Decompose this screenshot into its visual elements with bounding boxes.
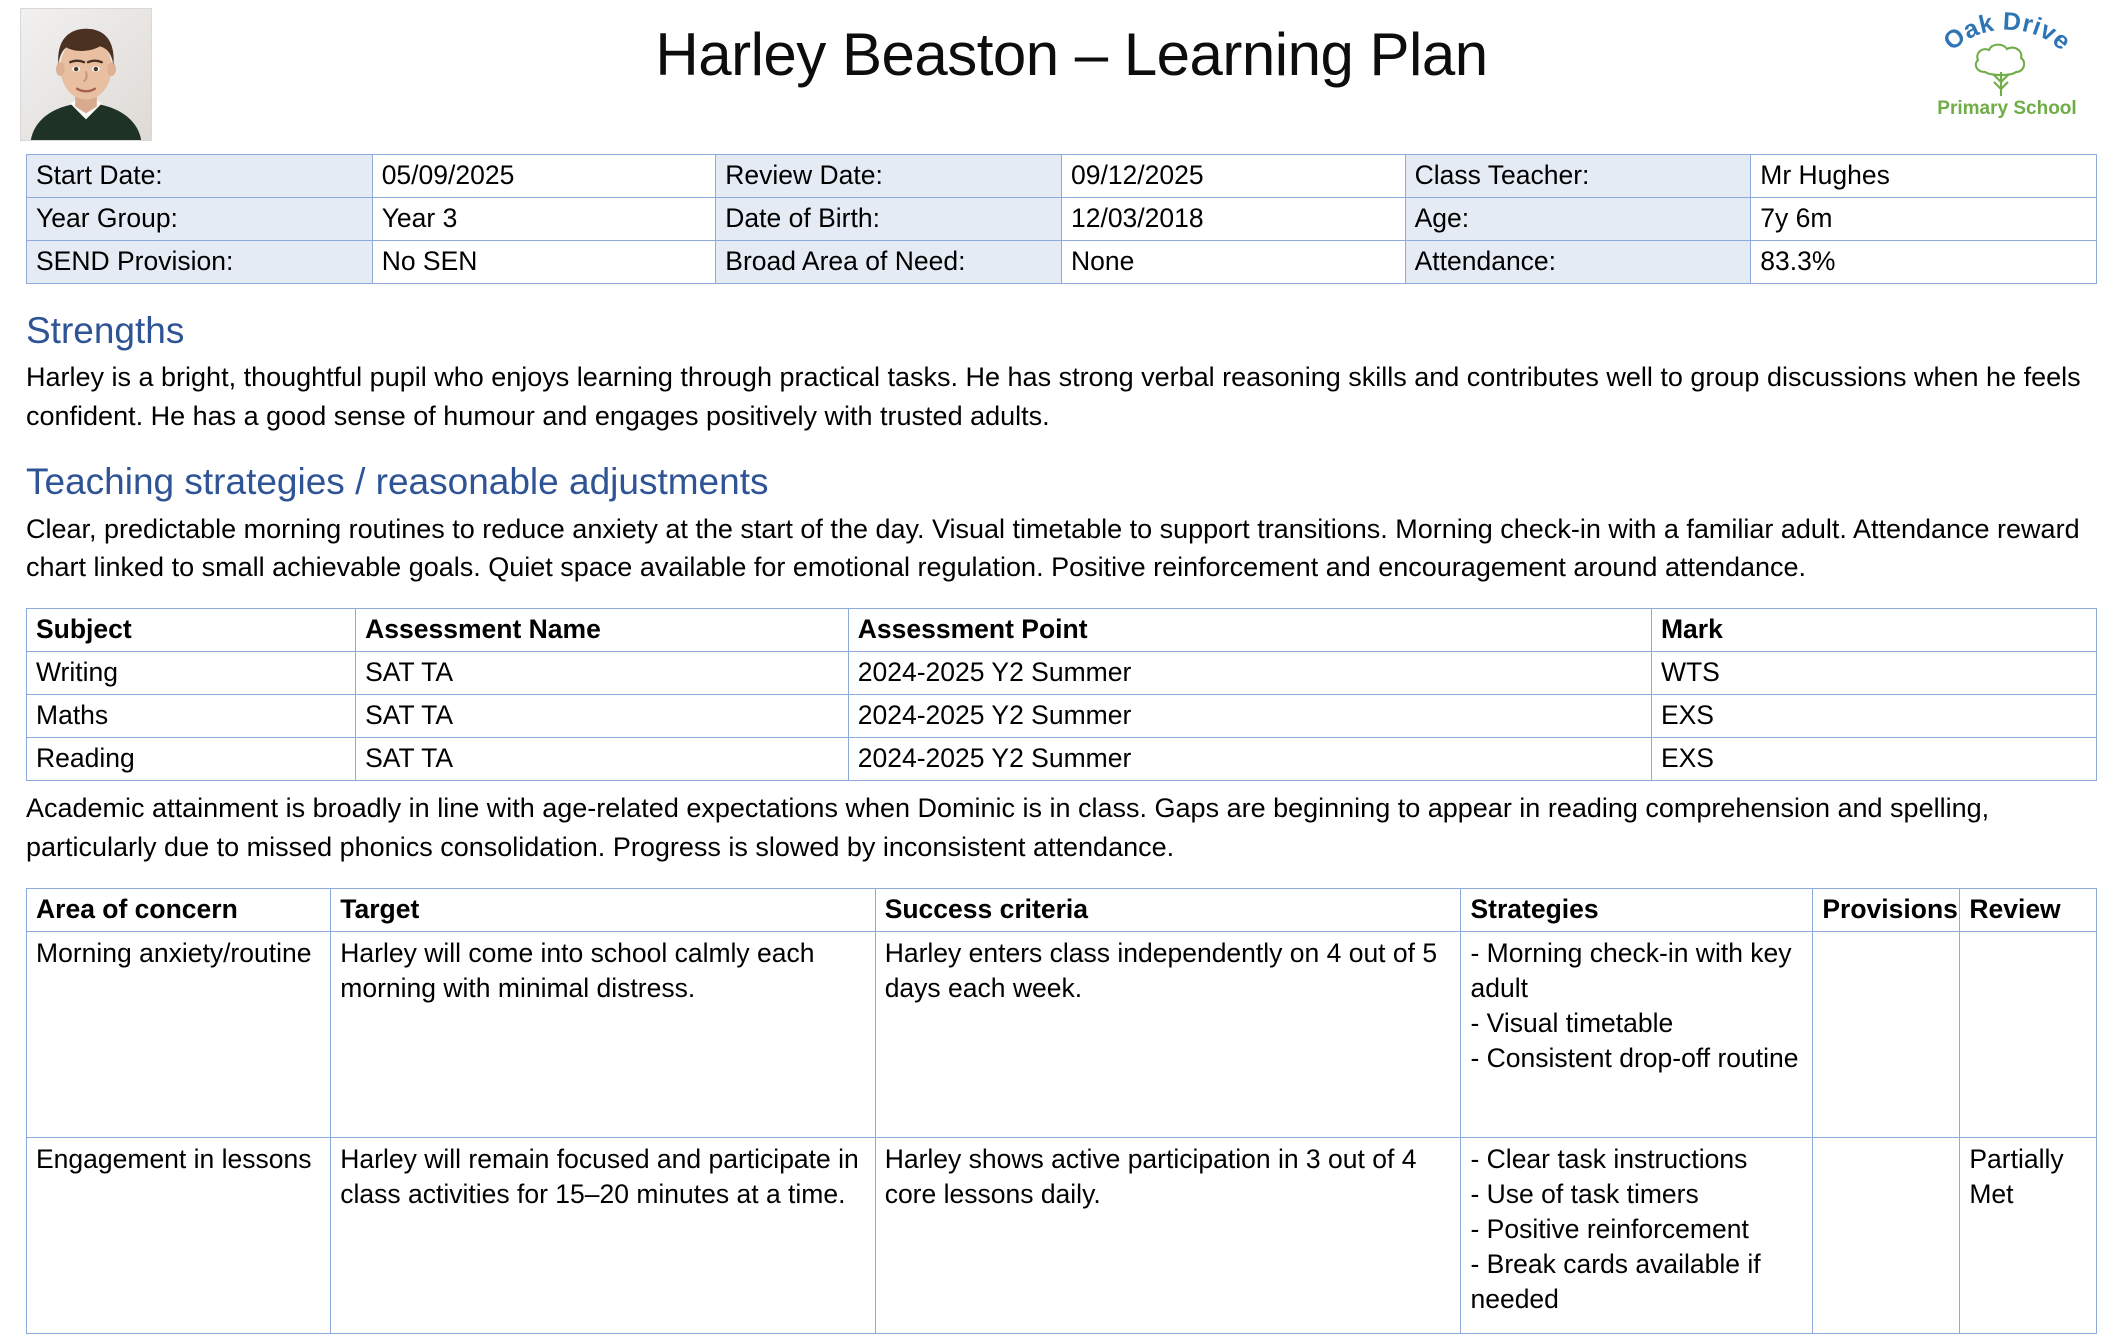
table-row: Reading SAT TA 2024-2025 Y2 Summer EXS (27, 738, 2097, 781)
assessment-header-mark: Mark (1651, 609, 2096, 652)
table-row: Morning anxiety/routine Harley will come… (27, 931, 2097, 1137)
strengths-heading: Strengths (26, 310, 2097, 353)
info-value-send-provision: No SEN (372, 240, 716, 283)
table-row: Writing SAT TA 2024-2025 Y2 Summer WTS (27, 652, 2097, 695)
info-label-date-of-birth: Date of Birth: (716, 197, 1062, 240)
learning-plan-page: Harley Beaston – Learning Plan Oak Drive (0, 0, 2123, 1311)
targets-cell-strategies: - Morning check-in with key adult - Visu… (1461, 931, 1813, 1137)
table-header-row: Subject Assessment Name Assessment Point… (27, 609, 2097, 652)
assessment-header-assessment-name: Assessment Name (356, 609, 849, 652)
assessment-cell-mark: WTS (1651, 652, 2096, 695)
table-row: Start Date: 05/09/2025 Review Date: 09/1… (27, 155, 2097, 198)
info-label-broad-area-of-need: Broad Area of Need: (716, 240, 1062, 283)
assessment-cell-mark: EXS (1651, 738, 2096, 781)
targets-cell-provisions (1813, 1137, 1960, 1333)
strategy-line: - Clear task instructions (1470, 1142, 1803, 1177)
table-row: Maths SAT TA 2024-2025 Y2 Summer EXS (27, 695, 2097, 738)
info-value-class-teacher: Mr Hughes (1751, 155, 2097, 198)
assessment-cell-subject: Maths (27, 695, 356, 738)
info-value-broad-area-of-need: None (1061, 240, 1405, 283)
assessment-cell-name: SAT TA (356, 738, 849, 781)
assessment-header-assessment-point: Assessment Point (848, 609, 1651, 652)
table-header-row: Area of concern Target Success criteria … (27, 888, 2097, 931)
info-label-year-group: Year Group: (27, 197, 373, 240)
info-value-age: 7y 6m (1751, 197, 2097, 240)
school-logo: Oak Drive Primary School (1923, 8, 2091, 120)
targets-cell-strategies: - Clear task instructions - Use of task … (1461, 1137, 1813, 1333)
assessment-cell-point: 2024-2025 Y2 Summer (848, 695, 1651, 738)
targets-cell-provisions (1813, 931, 1960, 1137)
page-title: Harley Beaston – Learning Plan (26, 22, 2097, 88)
targets-header-target: Target (331, 888, 875, 931)
assessment-cell-point: 2024-2025 Y2 Summer (848, 738, 1651, 781)
info-value-attendance: 83.3% (1751, 240, 2097, 283)
targets-cell-target: Harley will remain focused and participa… (331, 1137, 875, 1333)
document-header: Harley Beaston – Learning Plan Oak Drive (26, 0, 2097, 150)
strengths-text: Harley is a bright, thoughtful pupil who… (26, 358, 2097, 435)
strategy-line: - Use of task timers (1470, 1177, 1803, 1212)
info-label-attendance: Attendance: (1405, 240, 1751, 283)
targets-table: Area of concern Target Success criteria … (26, 888, 2097, 1334)
svg-text:Primary School: Primary School (1937, 98, 2076, 119)
teaching-strategies-text: Clear, predictable morning routines to r… (26, 510, 2097, 587)
info-label-review-date: Review Date: (716, 155, 1062, 198)
assessment-header-subject: Subject (27, 609, 356, 652)
targets-header-review: Review (1960, 888, 2097, 931)
school-logo-image: Oak Drive Primary School (1923, 8, 2091, 120)
assessment-cell-mark: EXS (1651, 695, 2096, 738)
strategy-line: - Positive reinforcement (1470, 1212, 1803, 1247)
info-value-year-group: Year 3 (372, 197, 716, 240)
targets-header-strategies: Strategies (1461, 888, 1813, 931)
info-label-send-provision: SEND Provision: (27, 240, 373, 283)
table-row: SEND Provision: No SEN Broad Area of Nee… (27, 240, 2097, 283)
targets-cell-review: Partially Met (1960, 1137, 2097, 1333)
teaching-strategies-heading: Teaching strategies / reasonable adjustm… (26, 461, 2097, 504)
assessment-cell-subject: Writing (27, 652, 356, 695)
pupil-info-table: Start Date: 05/09/2025 Review Date: 09/1… (26, 154, 2097, 284)
table-row: Engagement in lessons Harley will remain… (27, 1137, 2097, 1333)
targets-cell-success: Harley shows active participation in 3 o… (875, 1137, 1461, 1333)
targets-cell-target: Harley will come into school calmly each… (331, 931, 875, 1137)
assessment-cell-name: SAT TA (356, 695, 849, 738)
strategy-line: - Break cards available if needed (1470, 1247, 1803, 1317)
info-value-start-date: 05/09/2025 (372, 155, 716, 198)
info-value-review-date: 09/12/2025 (1061, 155, 1405, 198)
strategy-line: - Consistent drop-off routine (1470, 1041, 1803, 1076)
info-label-start-date: Start Date: (27, 155, 373, 198)
strategy-line: - Visual timetable (1470, 1006, 1803, 1041)
table-row: Year Group: Year 3 Date of Birth: 12/03/… (27, 197, 2097, 240)
info-value-date-of-birth: 12/03/2018 (1061, 197, 1405, 240)
targets-cell-review (1960, 931, 2097, 1137)
attainment-text: Academic attainment is broadly in line w… (26, 789, 2097, 866)
info-label-age: Age: (1405, 197, 1751, 240)
targets-cell-success: Harley enters class independently on 4 o… (875, 931, 1461, 1137)
assessment-cell-point: 2024-2025 Y2 Summer (848, 652, 1651, 695)
targets-header-success: Success criteria (875, 888, 1461, 931)
info-label-class-teacher: Class Teacher: (1405, 155, 1751, 198)
assessment-cell-name: SAT TA (356, 652, 849, 695)
targets-cell-area: Engagement in lessons (27, 1137, 331, 1333)
assessment-table: Subject Assessment Name Assessment Point… (26, 608, 2097, 781)
targets-header-provisions: Provisions (1813, 888, 1960, 931)
targets-cell-area: Morning anxiety/routine (27, 931, 331, 1137)
assessment-cell-subject: Reading (27, 738, 356, 781)
strategy-line: - Morning check-in with key adult (1470, 936, 1803, 1006)
targets-header-area: Area of concern (27, 888, 331, 931)
